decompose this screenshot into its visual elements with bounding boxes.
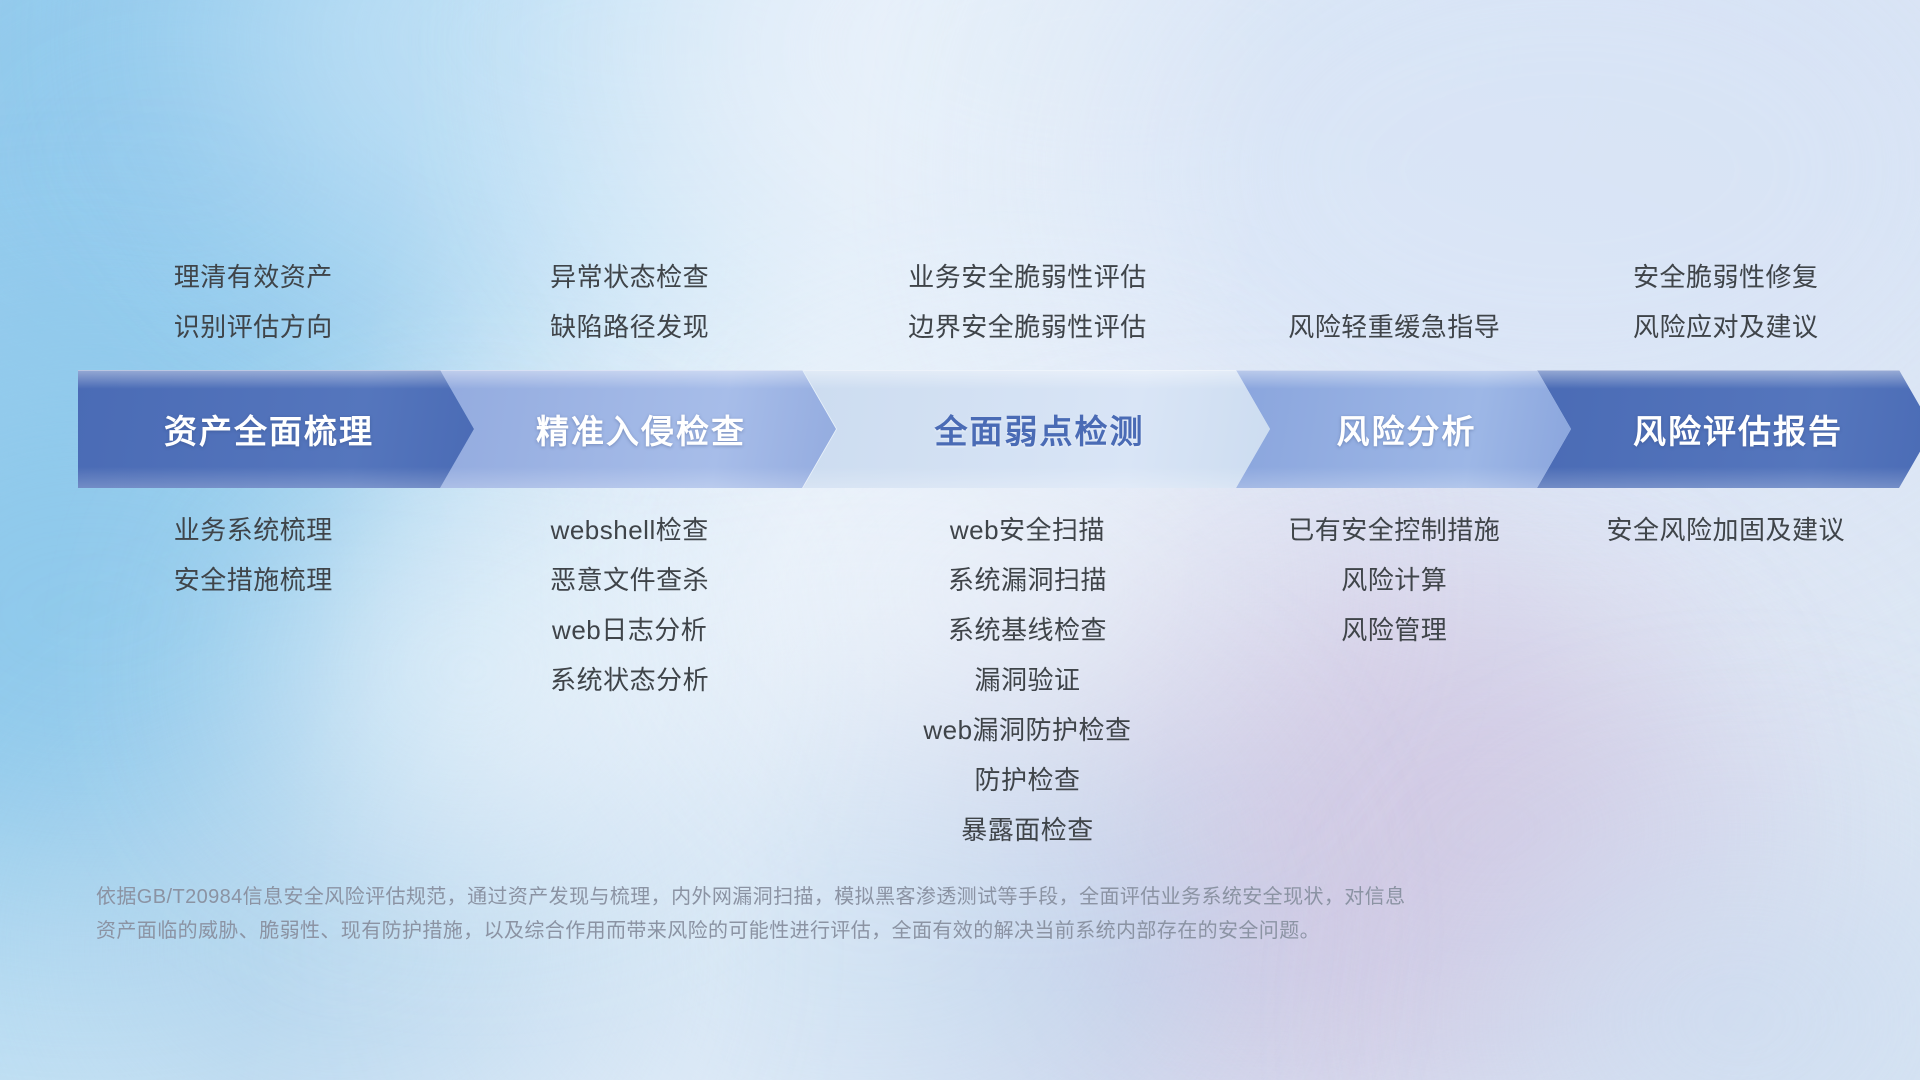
stage-5-top-item: 风险应对及建议 <box>1633 302 1819 352</box>
stage-2-bottom-item: webshell检查 <box>550 505 709 555</box>
footer-description: 依据GB/T20984信息安全风险评估规范，通过资产发现与梳理，内外网漏洞扫描，… <box>96 880 1616 948</box>
stage-3-bottom-item: 漏洞验证 <box>923 655 1131 705</box>
process-chevron-band: 资产全面梳理精准入侵检查全面弱点检测风险分析风险评估报告 <box>78 370 1846 488</box>
stage-3-bottom-item: 系统漏洞扫描 <box>923 555 1131 605</box>
process-stage-5[interactable]: 风险评估报告 <box>1537 370 1920 488</box>
process-stage-title-4: 风险分析 <box>1337 405 1477 453</box>
stage-5-top-list: 安全脆弱性修复风险应对及建议 <box>1633 252 1819 352</box>
stage-4-top-list: 风险轻重缓急指导 <box>1288 302 1500 352</box>
stage-3-top-list: 业务安全脆弱性评估边界安全脆弱性评估 <box>908 252 1147 352</box>
stage-3-bottom-item: web安全扫描 <box>923 505 1131 555</box>
stage-4-bottom-item: 已有安全控制措施 <box>1288 505 1500 555</box>
stage-5-bottom-item: 安全风险加固及建议 <box>1607 505 1846 555</box>
stage-2-bottom-item: web日志分析 <box>550 605 709 655</box>
stage-4-bottom-item: 风险管理 <box>1288 605 1500 655</box>
process-stage-title-5: 风险评估报告 <box>1633 405 1843 453</box>
stage-3-bottom-item: web漏洞防护检查 <box>923 705 1131 755</box>
footer-line-2: 资产面临的威胁、脆弱性、现有防护措施，以及综合作用而带来风险的可能性进行评估，全… <box>96 914 1616 948</box>
stage-2-top-item: 异常状态检查 <box>550 252 709 302</box>
process-diagram: 理清有效资产识别评估方向异常状态检查缺陷路径发现业务安全脆弱性评估边界安全脆弱性… <box>0 0 1920 1080</box>
stage-3-bottom-item: 防护检查 <box>923 755 1131 805</box>
process-stage-1[interactable]: 资产全面梳理 <box>78 370 474 488</box>
process-stage-title-3: 全面弱点检测 <box>935 405 1145 453</box>
stage-2-bottom-item: 恶意文件查杀 <box>550 555 709 605</box>
stage-1-top-list: 理清有效资产识别评估方向 <box>174 252 333 352</box>
stage-3-bottom-item: 系统基线检查 <box>923 605 1131 655</box>
footer-line-1: 依据GB/T20984信息安全风险评估规范，通过资产发现与梳理，内外网漏洞扫描，… <box>96 880 1616 914</box>
stage-1-top-item: 理清有效资产 <box>174 252 333 302</box>
stage-5-bottom-list: 安全风险加固及建议 <box>1607 505 1846 555</box>
stage-2-bottom-list: webshell检查恶意文件查杀web日志分析系统状态分析 <box>550 505 709 705</box>
stage-4-bottom-item: 风险计算 <box>1288 555 1500 605</box>
process-stage-2[interactable]: 精准入侵检查 <box>440 370 836 488</box>
stage-1-bottom-item: 安全措施梳理 <box>174 555 333 605</box>
stage-4-top-item: 风险轻重缓急指导 <box>1288 302 1500 352</box>
stage-3-top-item: 业务安全脆弱性评估 <box>908 252 1147 302</box>
stage-1-bottom-list: 业务系统梳理安全措施梳理 <box>174 505 333 605</box>
stage-2-top-item: 缺陷路径发现 <box>550 302 709 352</box>
process-stage-3[interactable]: 全面弱点检测 <box>803 370 1270 488</box>
process-stage-4[interactable]: 风险分析 <box>1236 370 1571 488</box>
stage-3-bottom-item: 暴露面检查 <box>923 805 1131 855</box>
stage-3-bottom-list: web安全扫描系统漏洞扫描系统基线检查漏洞验证web漏洞防护检查防护检查暴露面检… <box>923 505 1131 855</box>
stage-2-top-list: 异常状态检查缺陷路径发现 <box>550 252 709 352</box>
stage-2-bottom-item: 系统状态分析 <box>550 655 709 705</box>
stage-3-top-item: 边界安全脆弱性评估 <box>908 302 1147 352</box>
stage-1-bottom-item: 业务系统梳理 <box>174 505 333 555</box>
stage-4-bottom-list: 已有安全控制措施风险计算风险管理 <box>1288 505 1500 655</box>
stage-5-top-item: 安全脆弱性修复 <box>1633 252 1819 302</box>
stage-1-top-item: 识别评估方向 <box>174 302 333 352</box>
process-stage-title-1: 资产全面梳理 <box>164 405 374 453</box>
process-stage-title-2: 精准入侵检查 <box>536 405 746 453</box>
